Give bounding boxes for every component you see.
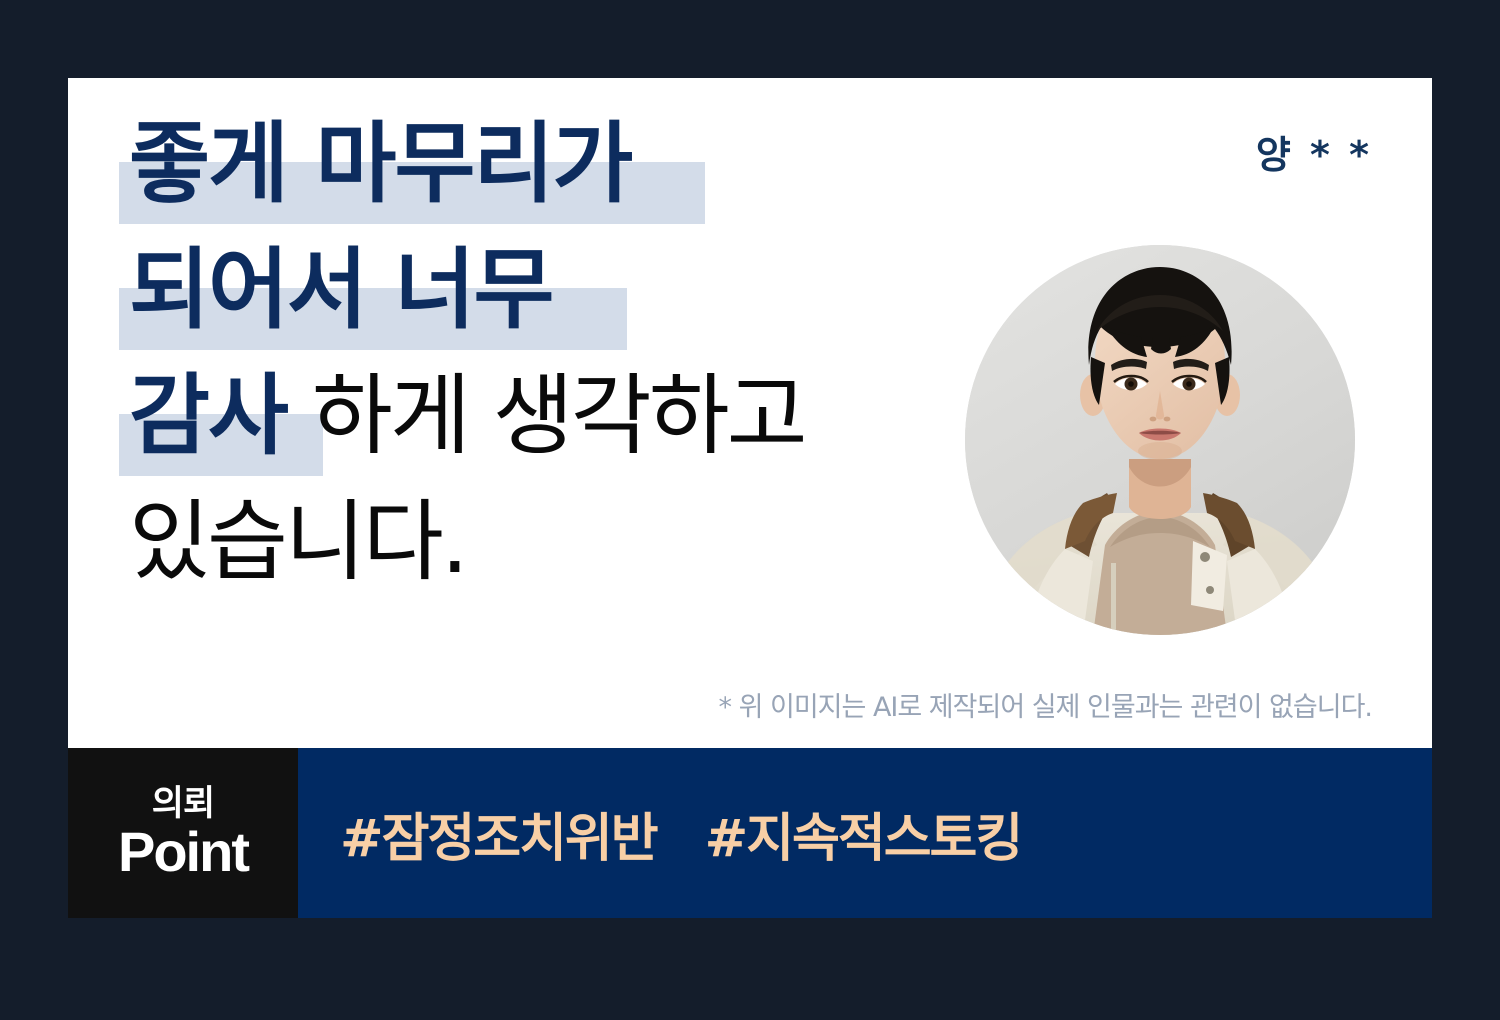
hashtag-2[interactable]: #지속적스토킹 (705, 796, 1022, 871)
footer-strip: 의뢰 Point #잠정조치위반 #지속적스토킹 (68, 748, 1432, 918)
headline-line-3-text: 감사 하게 생각하고 (111, 356, 971, 476)
headline: 좋게 마무리가 되어서 너무 감사 하게 생각하고 있습니다. (111, 104, 971, 608)
testimonial-card: 양 * * 좋게 마무리가 되어서 너무 감사 하게 생각하고 있습니다. (68, 78, 1432, 748)
ai-image-disclaimer: * 위 이미지는 AI로 제작되어 실제 인물과는 관련이 없습니다. (719, 685, 1373, 724)
headline-line-1-text: 좋게 마무리가 (111, 104, 971, 224)
headline-line-2-navy: 되어서 너무 (129, 238, 552, 341)
client-name: 양 * * (1256, 124, 1372, 179)
portrait-illustration (965, 245, 1355, 635)
headline-line-1: 좋게 마무리가 (111, 104, 971, 230)
headline-line-2-text: 되어서 너무 (111, 230, 971, 350)
headline-line-3-navy: 감사 (129, 364, 287, 467)
hashtag-bar: #잠정조치위반 #지속적스토킹 (298, 748, 1432, 918)
client-portrait-photo (965, 245, 1355, 635)
brand-logo-en: Point (118, 823, 248, 881)
headline-line-1-navy: 좋게 마무리가 (129, 112, 631, 215)
hashtag-1[interactable]: #잠정조치위반 (340, 796, 657, 871)
brand-logo[interactable]: 의뢰 Point (68, 748, 298, 918)
headline-line-2: 되어서 너무 (111, 230, 971, 356)
poster-canvas: 양 * * 좋게 마무리가 되어서 너무 감사 하게 생각하고 있습니다. (0, 0, 1500, 1020)
headline-line-4: 있습니다. (111, 482, 971, 608)
headline-line-4-text: 있습니다. (111, 482, 971, 602)
headline-line-3: 감사 하게 생각하고 (111, 356, 971, 482)
headline-line-3-black: 하게 생각하고 (287, 364, 805, 467)
brand-logo-kr: 의뢰 (152, 785, 214, 823)
